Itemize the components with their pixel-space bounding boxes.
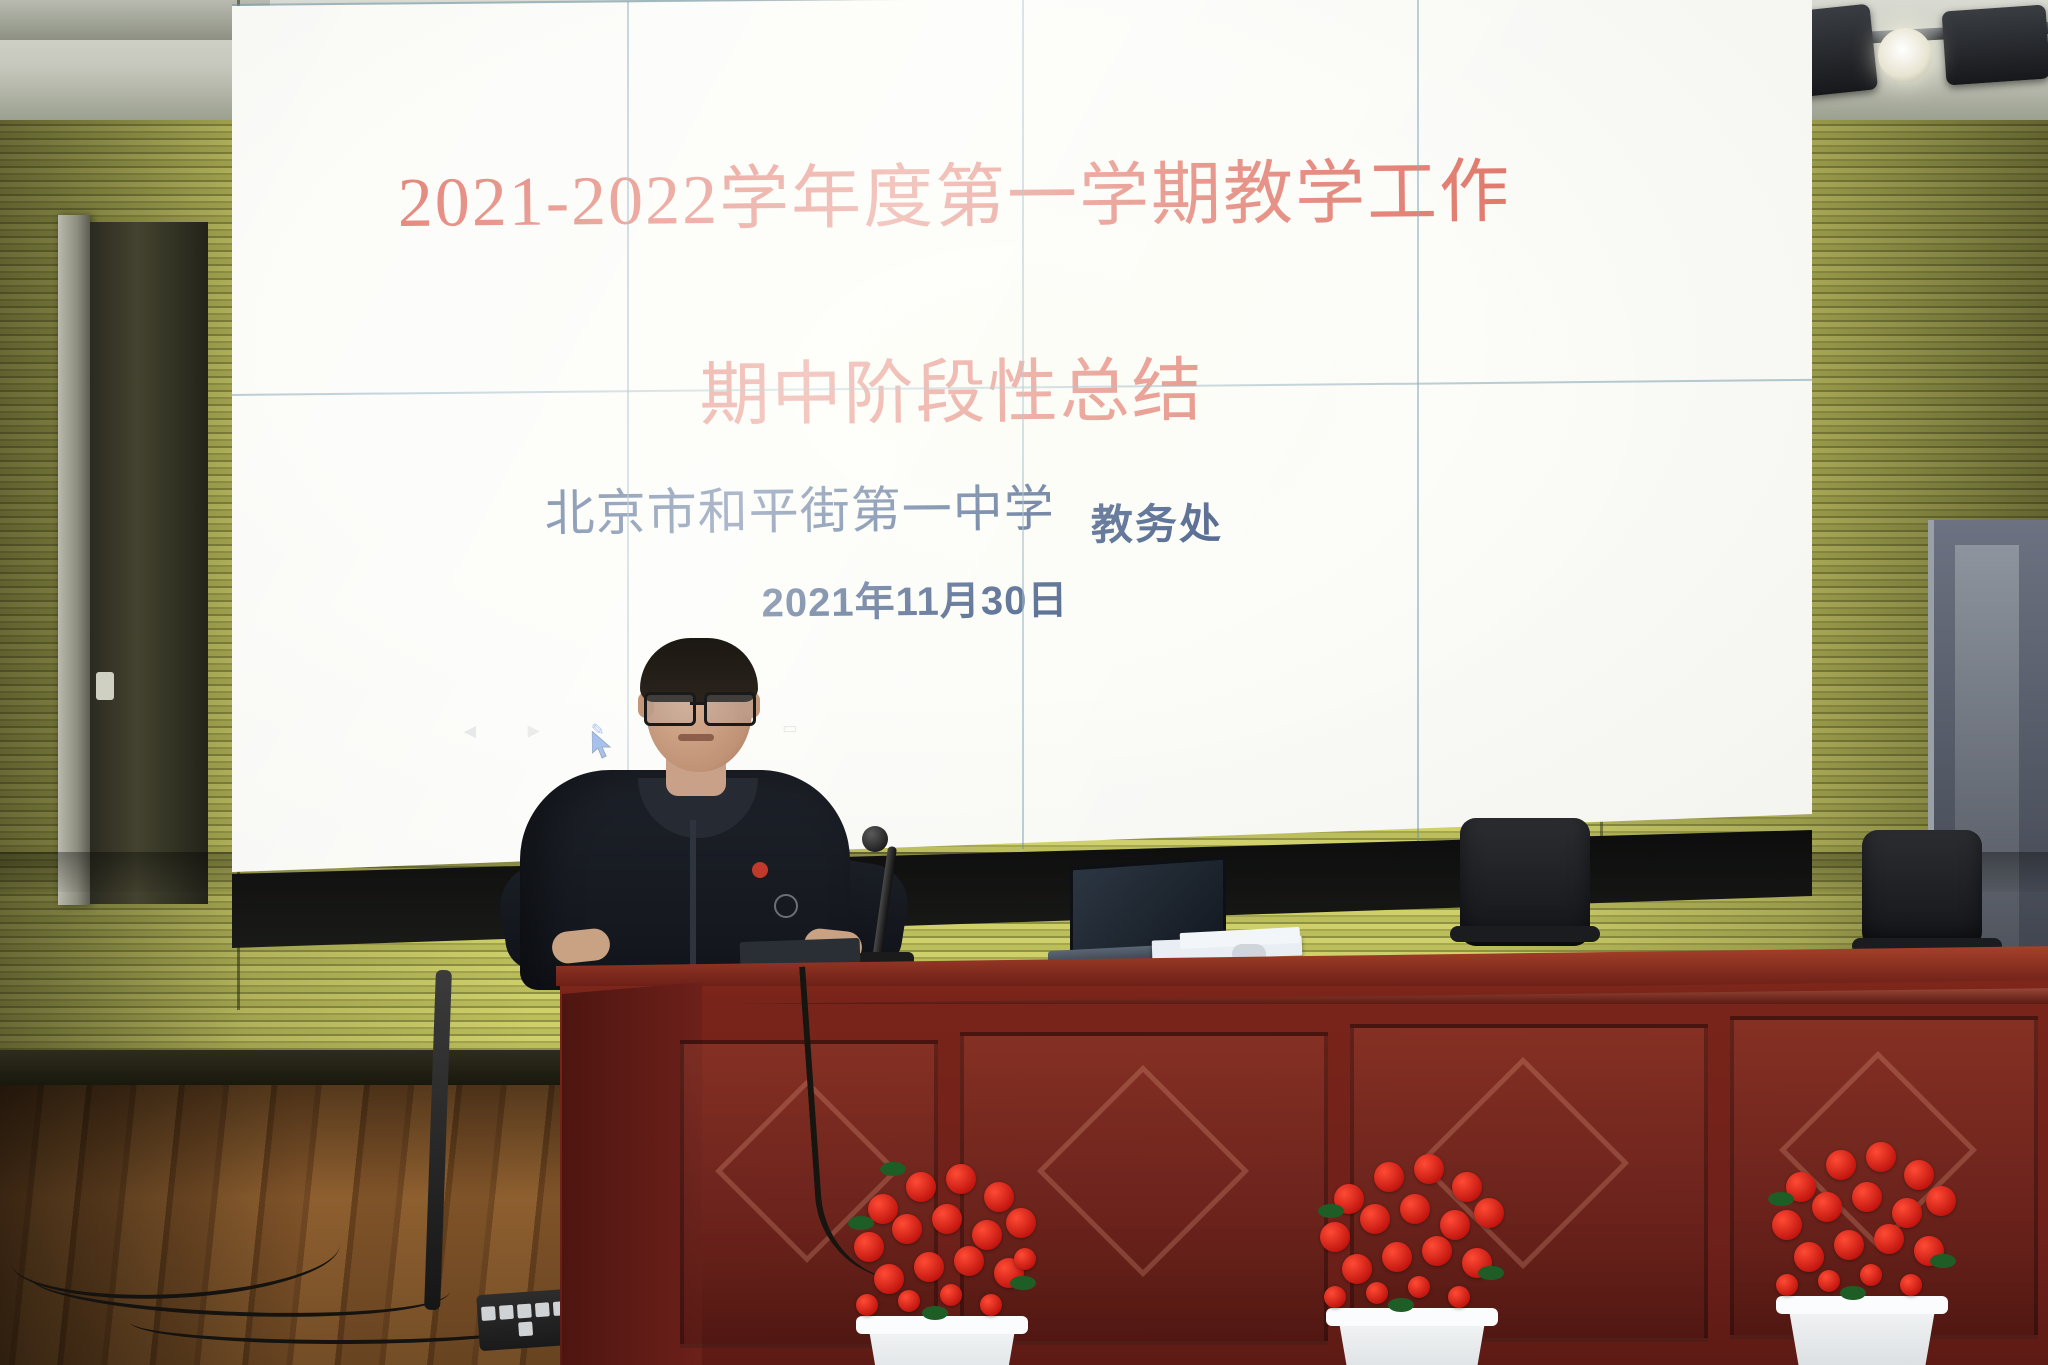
rose-icon [1400, 1194, 1430, 1224]
rose-icon [972, 1220, 1002, 1250]
door-handle[interactable] [96, 672, 114, 700]
rose-icon [1324, 1286, 1346, 1308]
rose-icon [954, 1246, 984, 1276]
rose-icon [1812, 1192, 1842, 1222]
rose-icon [1852, 1182, 1882, 1212]
rose-icon [892, 1214, 922, 1244]
chair-backrest [1862, 830, 1982, 948]
rose-icon [1374, 1162, 1404, 1192]
leaf-icon [1930, 1254, 1956, 1268]
rose-icon [856, 1294, 878, 1316]
play-icon[interactable]: ▶ [521, 718, 547, 744]
rose-cluster [1768, 1128, 1958, 1318]
rose-icon [1474, 1198, 1504, 1228]
rose-icon [1448, 1286, 1470, 1308]
rose-icon [1834, 1230, 1864, 1260]
rose-icon [984, 1182, 1014, 1212]
door-panel[interactable] [90, 222, 208, 904]
leaf-icon [1010, 1276, 1036, 1290]
bouquet-center [1318, 1140, 1568, 1365]
leaf-icon [922, 1306, 948, 1320]
leaf-icon [1478, 1266, 1504, 1280]
door-frame [58, 215, 90, 905]
slide-title-line-1: 2021-2022学年度第一学期教学工作 [397, 135, 1511, 247]
rose-icon [874, 1264, 904, 1294]
presenter [560, 630, 920, 970]
rose-icon [1366, 1282, 1388, 1304]
rose-icon [1014, 1248, 1036, 1270]
presenter-logo-icon [774, 894, 798, 918]
screen-bezel-v3 [1417, 0, 1419, 847]
rose-icon [914, 1252, 944, 1282]
leaf-icon [848, 1216, 874, 1230]
rose-icon [940, 1284, 962, 1306]
rose-icon [932, 1204, 962, 1234]
rose-icon [1892, 1198, 1922, 1228]
rose-icon [1320, 1222, 1350, 1252]
rose-cluster [1318, 1140, 1508, 1330]
rose-icon [1382, 1242, 1412, 1272]
leaf-icon [1768, 1192, 1794, 1206]
slide-department: 教务处 [1091, 490, 1224, 552]
rose-icon [1422, 1236, 1452, 1266]
glasses-bridge [690, 702, 704, 705]
rose-icon [1342, 1254, 1372, 1284]
rose-icon [1818, 1270, 1840, 1292]
rose-cluster [848, 1148, 1038, 1338]
rose-icon [1826, 1150, 1856, 1180]
rose-icon [898, 1290, 920, 1312]
eyeglasses-icon [644, 692, 756, 720]
stage-spotlight-right-icon [1942, 4, 2048, 85]
slide-organization: 北京市和平街第一中学 [544, 469, 1055, 546]
screen-bezel-v2 [1022, 0, 1024, 849]
bouquet-left [848, 1148, 1098, 1365]
rose-icon [906, 1172, 936, 1202]
rose-icon [1360, 1204, 1390, 1234]
control-button[interactable] [499, 1305, 514, 1320]
control-button[interactable] [481, 1306, 496, 1321]
video-wall[interactable]: 2021-2022学年度第一学期教学工作 期中阶段性总结 北京市和平街第一中学 … [232, 0, 1812, 872]
rose-icon [1900, 1274, 1922, 1296]
rose-icon [1904, 1160, 1934, 1190]
rose-icon [1452, 1172, 1482, 1202]
leaf-icon [1388, 1298, 1414, 1312]
rose-icon [1874, 1224, 1904, 1254]
rose-icon [1414, 1154, 1444, 1184]
leaf-icon [1318, 1204, 1344, 1218]
previous-icon[interactable]: ◀ [457, 718, 483, 744]
rose-icon [1006, 1208, 1036, 1238]
floor-control-box[interactable] [476, 1289, 574, 1351]
microphone-icon [862, 826, 888, 852]
rose-icon [946, 1164, 976, 1194]
ceiling-downlight-icon [1878, 28, 1932, 82]
rose-icon [1772, 1210, 1802, 1240]
bouquet-right [1768, 1128, 2018, 1365]
presenter-mouth [678, 734, 714, 741]
left-lens [644, 692, 696, 726]
photo-scene: 2021-2022学年度第一学期教学工作 期中阶段性总结 北京市和平街第一中学 … [0, 0, 2048, 1365]
rose-icon [1794, 1242, 1824, 1272]
leaf-icon [880, 1162, 906, 1176]
rose-icon [1860, 1264, 1882, 1286]
right-lens [704, 692, 756, 726]
rose-icon [1440, 1210, 1470, 1240]
leaf-icon [1840, 1286, 1866, 1300]
presenter-zipper [690, 820, 696, 980]
rose-icon [980, 1294, 1002, 1316]
rose-icon [854, 1232, 884, 1262]
control-button[interactable] [535, 1302, 550, 1317]
control-button[interactable] [518, 1322, 533, 1337]
office-chair-right[interactable] [1862, 830, 1982, 948]
chair-armrest [1450, 926, 1600, 942]
presenter-badge-icon [752, 862, 768, 878]
office-chair-center[interactable] [1460, 818, 1590, 946]
rose-icon [1408, 1276, 1430, 1298]
rose-icon [1776, 1274, 1798, 1296]
rose-icon [1926, 1186, 1956, 1216]
control-button[interactable] [517, 1304, 532, 1319]
rose-icon [1866, 1142, 1896, 1172]
